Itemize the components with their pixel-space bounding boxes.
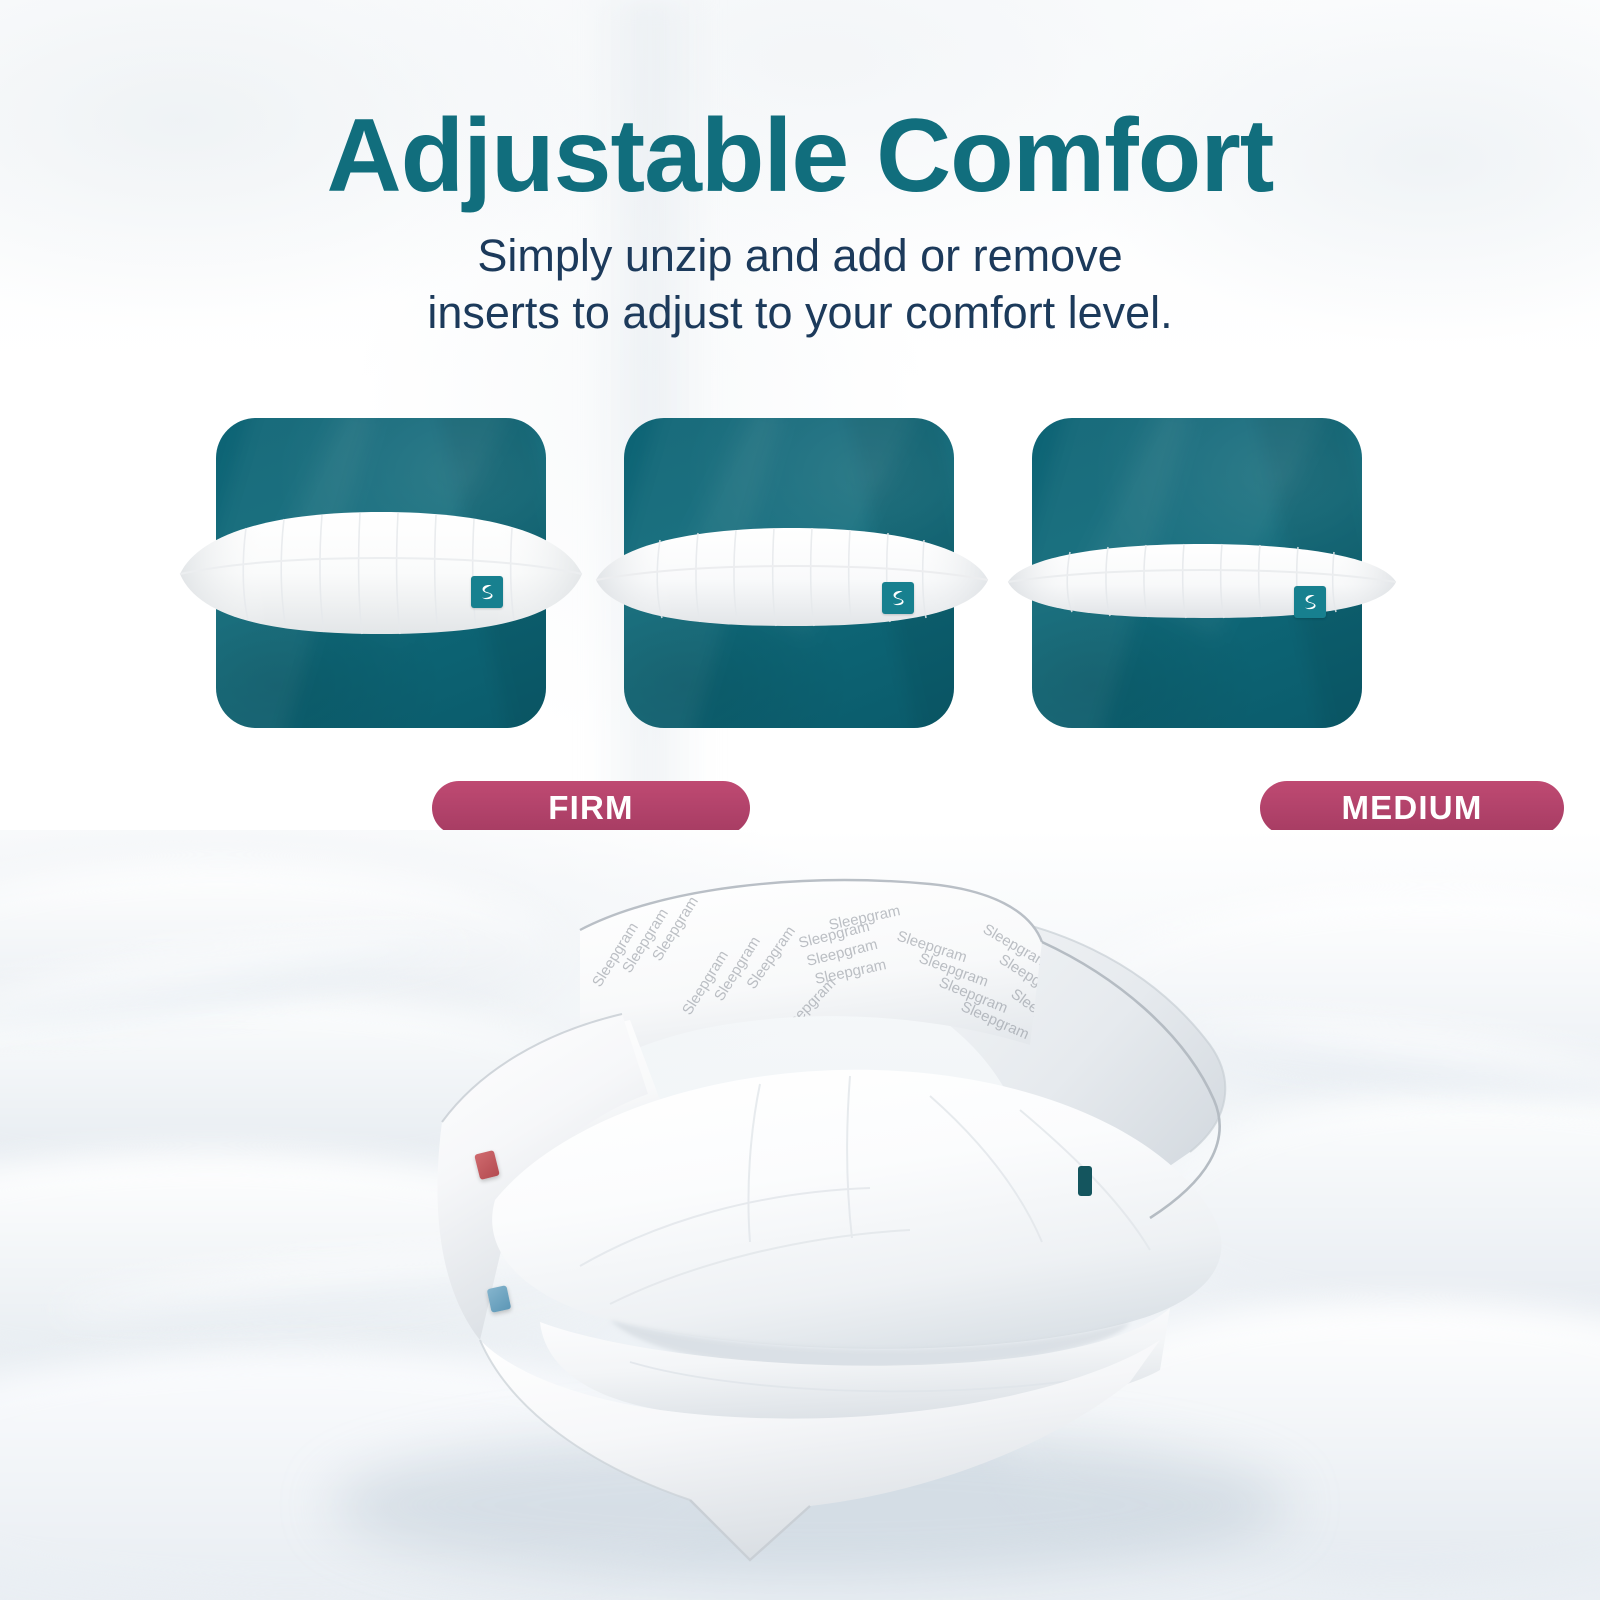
page-title: Adjustable Comfort xyxy=(0,104,1600,208)
firmness-label-firm[interactable]: FIRM xyxy=(432,781,750,835)
hero-product-photo: Sleepgram Sleepgram Sleepgram Sleepgram … xyxy=(0,830,1600,1600)
sleepgram-logo-tag xyxy=(471,576,503,608)
option-card-background xyxy=(624,418,954,728)
subtitle-line-1: Simply unzip and add or remove xyxy=(0,228,1600,285)
firmness-options-row: FIRM xyxy=(0,418,1600,728)
firmness-option-medium[interactable]: MEDIUM xyxy=(624,418,954,728)
firmness-option-firm[interactable]: FIRM xyxy=(216,418,546,728)
firmness-option-soft[interactable]: SOFT xyxy=(1032,418,1362,728)
option-card-background xyxy=(1032,418,1362,728)
zipper-pull-tab xyxy=(1078,1166,1092,1196)
page-subtitle: Simply unzip and add or remove inserts t… xyxy=(0,228,1600,341)
adjustable-pillow-assembly: Sleepgram Sleepgram Sleepgram Sleepgram … xyxy=(330,870,1280,1570)
subtitle-line-2: inserts to adjust to your comfort level. xyxy=(0,285,1600,342)
firmness-label-medium[interactable]: MEDIUM xyxy=(1260,781,1564,835)
sleepgram-logo-tag xyxy=(882,582,914,614)
sleepgram-logo-tag xyxy=(1294,586,1326,618)
option-card-background xyxy=(216,418,546,728)
infographic-root: Adjustable Comfort Simply unzip and add … xyxy=(0,0,1600,1600)
